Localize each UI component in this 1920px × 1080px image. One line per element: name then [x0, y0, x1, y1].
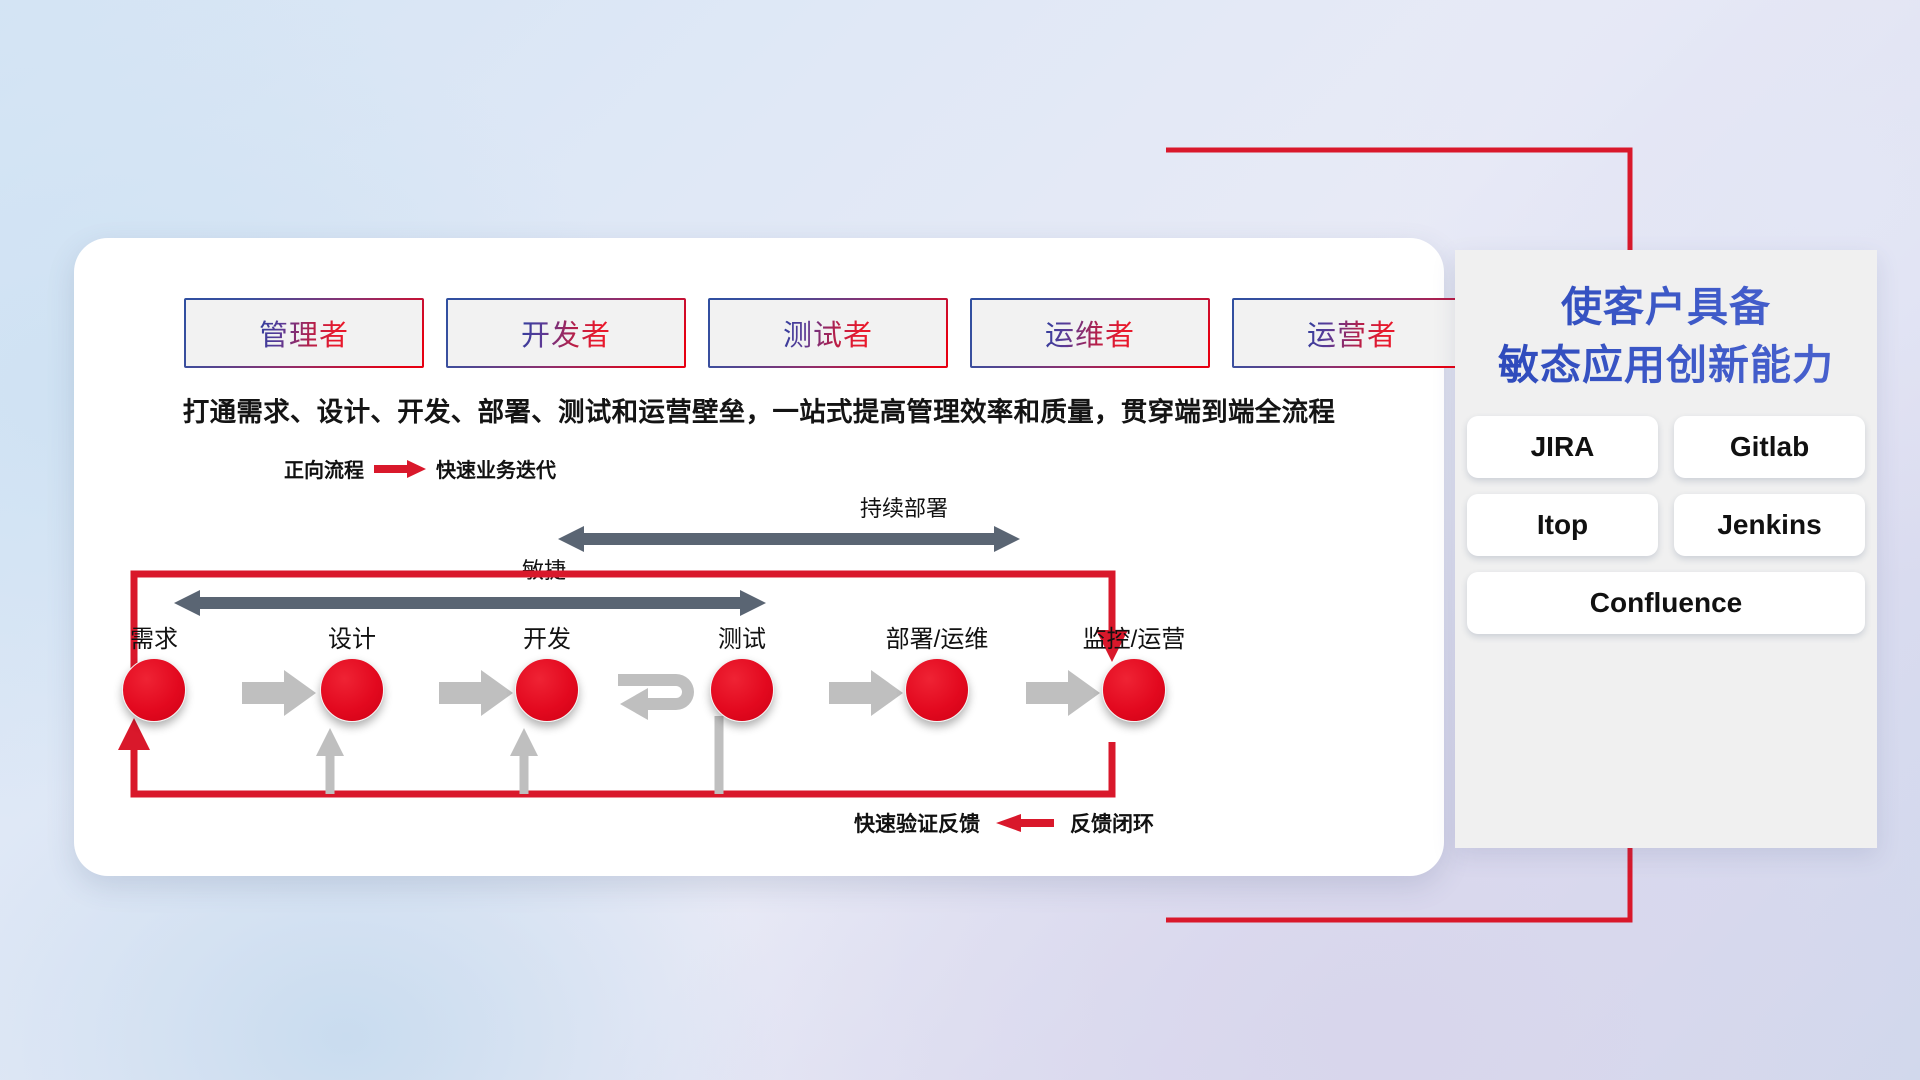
legend-feedback-from-label: 反馈闭环 [1070, 808, 1154, 838]
role-label: 管理者 [259, 312, 349, 354]
role-box-tester[interactable]: 测试者 [708, 298, 948, 368]
double-arrow-slate-icon-agile [174, 590, 766, 616]
role-label: 运营者 [1307, 312, 1397, 354]
slide-canvas: 管理者 开发者 测试者 运维者 运营者 打通需求、设计、开发、部署、测试和运营壁… [0, 0, 1920, 1080]
role-box-manager[interactable]: 管理者 [184, 298, 424, 368]
pipeline-node-testing[interactable]: 测试 [684, 628, 800, 722]
value-panel-title-line-2: 敏态应用创新能力 [1455, 336, 1877, 394]
double-arrow-slate-icon-continuous-deployment [558, 526, 1020, 552]
tool-chip-confluence[interactable]: Confluence [1467, 572, 1865, 634]
legend-forward-to-label: 快速业务迭代 [436, 454, 556, 483]
pipeline-node-dot [1102, 658, 1166, 722]
arrow-right-red-icon [374, 460, 426, 478]
tool-chip-itop[interactable]: Itop [1467, 494, 1658, 556]
role-label: 运维者 [1045, 312, 1135, 354]
tool-chip-jenkins[interactable]: Jenkins [1674, 494, 1865, 556]
role-boxes: 管理者 开发者 测试者 运维者 运营者 [184, 298, 1472, 368]
legend-feedback-to-label: 快速验证反馈 [854, 808, 980, 838]
pipeline-node-dot [710, 658, 774, 722]
main-diagram-card: 管理者 开发者 测试者 运维者 运营者 打通需求、设计、开发、部署、测试和运营壁… [74, 238, 1444, 876]
role-box-operations[interactable]: 运营者 [1232, 298, 1472, 368]
arrow-left-red-icon [996, 814, 1054, 832]
pipeline-node-monitor-operations[interactable]: 监控/运营 [1076, 628, 1192, 722]
pipeline-node-label: 部署/运维 [879, 628, 995, 652]
role-label: 测试者 [783, 312, 873, 354]
pipeline-node-label: 需求 [96, 628, 212, 652]
tool-chip-list: JIRA Gitlab Itop Jenkins Confluence [1467, 416, 1865, 634]
pipeline-node-dot [320, 658, 384, 722]
band-label-continuous-deployment: 持续部署 [774, 491, 1034, 523]
band-label-agile: 敏捷 [444, 553, 644, 585]
role-box-developer[interactable]: 开发者 [446, 298, 686, 368]
pipeline-node-requirements[interactable]: 需求 [96, 628, 212, 722]
pipeline-node-deploy-ops[interactable]: 部署/运维 [879, 628, 995, 722]
tool-chip-gitlab[interactable]: Gitlab [1674, 416, 1865, 478]
pipeline-node-label: 设计 [294, 628, 410, 652]
value-panel-title: 使客户具备 敏态应用创新能力 [1455, 278, 1877, 394]
pipeline-node-dot [515, 658, 579, 722]
value-panel: 使客户具备 敏态应用创新能力 JIRA Gitlab Itop Jenkins … [1455, 250, 1877, 848]
role-label: 开发者 [521, 312, 611, 354]
card-description: 打通需求、设计、开发、部署、测试和运营壁垒，一站式提高管理效率和质量，贯穿端到端… [74, 390, 1444, 429]
pipeline-node-label: 监控/运营 [1076, 628, 1192, 652]
pipeline-node-dot [905, 658, 969, 722]
legend-forward-flow: 正向流程 快速业务迭代 [284, 454, 556, 483]
pipeline-node-label: 开发 [489, 628, 605, 652]
role-box-ops[interactable]: 运维者 [970, 298, 1210, 368]
tool-chip-jira[interactable]: JIRA [1467, 416, 1658, 478]
pipeline-node-design[interactable]: 设计 [294, 628, 410, 722]
pipeline-node-dot [122, 658, 186, 722]
legend-feedback-loop: 快速验证反馈 反馈闭环 [854, 808, 1154, 838]
pipeline-node-label: 测试 [684, 628, 800, 652]
pipeline-node-development[interactable]: 开发 [489, 628, 605, 722]
pipeline: 需求 设计 开发 测试 [114, 628, 1404, 768]
legend-forward-from-label: 正向流程 [284, 454, 364, 483]
value-panel-title-line-1: 使客户具备 [1455, 278, 1877, 336]
